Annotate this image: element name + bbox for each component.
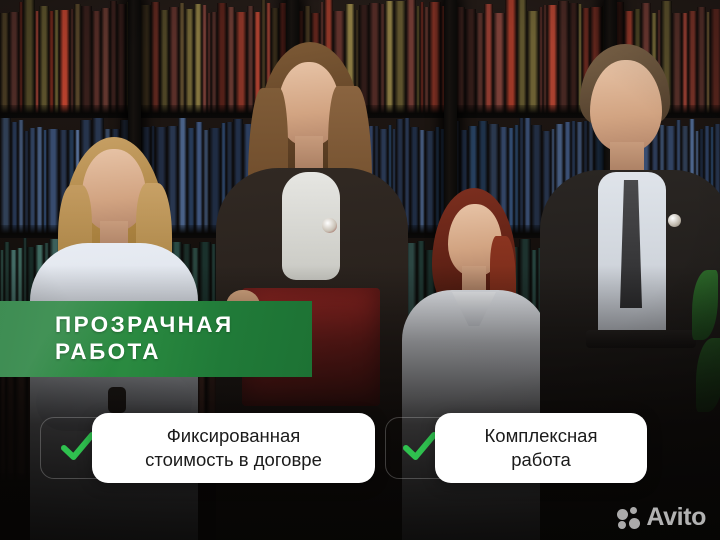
book-spine <box>456 7 465 118</box>
leaf <box>696 338 720 412</box>
wristband <box>108 387 126 413</box>
book-spine <box>476 13 484 118</box>
book-spine <box>465 9 476 118</box>
feature-line-1a: Фиксированная <box>131 424 336 448</box>
feature-card-fixed-price: Фиксированная стоимость в договре <box>92 413 375 483</box>
avito-watermark: Avito <box>617 505 706 530</box>
book-spine <box>0 118 11 238</box>
book-spine <box>81 6 92 118</box>
headline-banner: ПРОЗРАЧНАЯ РАБОТА <box>0 301 312 377</box>
head <box>590 60 662 152</box>
book-spine <box>505 0 517 118</box>
headline-line-1: ПРОЗРАЧНАЯ <box>55 312 234 339</box>
book-spine <box>160 10 169 118</box>
book-spine <box>185 9 194 118</box>
feature-line-2a: Комплексная <box>471 424 612 448</box>
check-icon <box>61 432 95 462</box>
book-spine <box>517 0 527 118</box>
plant-leaves <box>690 260 720 480</box>
book-spine <box>59 10 70 118</box>
avito-dots-icon <box>617 507 640 529</box>
ad-creative: ПРОЗРАЧНАЯ РАБОТА Фиксированная стоимост… <box>0 0 720 540</box>
book-spine <box>110 1 117 118</box>
neck <box>295 136 323 172</box>
person-woman-redhair <box>400 180 550 540</box>
book-spine <box>92 11 101 118</box>
headline-line-2: РАБОТА <box>55 339 234 366</box>
feature-line-2b: работа <box>471 448 612 472</box>
book-spine <box>117 4 126 118</box>
book-spine <box>39 6 49 118</box>
book-spine <box>101 8 110 118</box>
book-spine <box>194 4 202 118</box>
book-spine <box>6 364 15 486</box>
leaf <box>692 270 718 340</box>
book-spine <box>11 122 18 238</box>
book-spine <box>429 2 441 118</box>
headline-text: ПРОЗРАЧНАЯ РАБОТА <box>0 312 234 365</box>
book-spine <box>527 11 539 118</box>
feature-card-complex-work: Комплексная работа <box>435 413 647 483</box>
check-icon <box>403 432 437 462</box>
avito-wordmark: Avito <box>646 505 706 530</box>
lapel-pin <box>668 214 681 227</box>
book-spine <box>484 4 493 118</box>
belt <box>586 330 696 348</box>
book-spine <box>151 2 160 118</box>
lapel-badge <box>322 218 337 233</box>
book-spine <box>9 12 19 118</box>
feature-card-text-1: Фиксированная стоимость в договре <box>117 424 350 473</box>
book-spine <box>169 7 179 118</box>
book-spine <box>493 13 505 118</box>
book-spine <box>23 0 35 118</box>
feature-line-1b: стоимость в договре <box>131 448 336 472</box>
feature-card-text-2: Комплексная работа <box>457 424 626 473</box>
book-spine <box>0 13 9 118</box>
book-spine <box>74 4 81 118</box>
